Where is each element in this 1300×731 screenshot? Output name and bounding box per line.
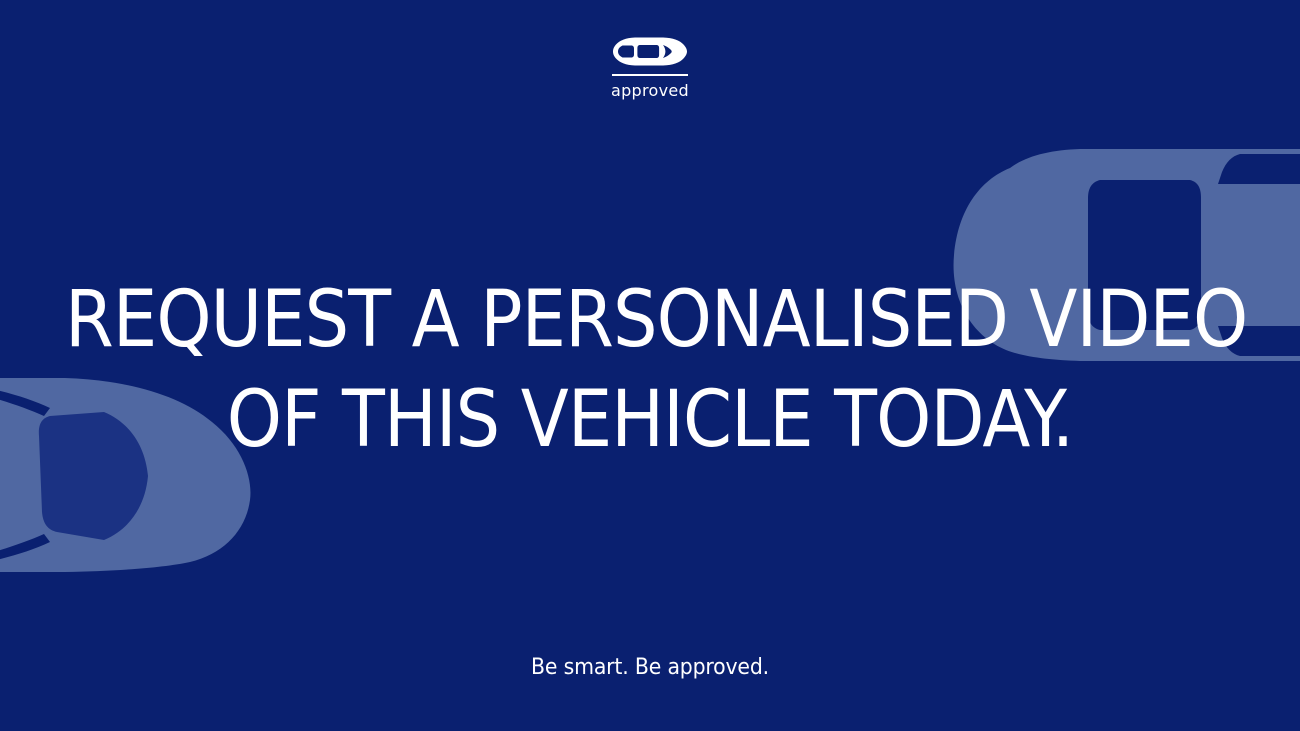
promo-banner: approved REQUEST A PERSONALISED VIDEO OF…: [0, 0, 1300, 731]
car-top-view-icon: [613, 36, 687, 67]
headline-line-2: OF THIS VEHICLE TODAY.: [65, 372, 1235, 468]
logo-wordmark: approved: [611, 81, 689, 100]
headline: REQUEST A PERSONALISED VIDEO OF THIS VEH…: [0, 272, 1300, 468]
logo-divider: [612, 74, 688, 76]
headline-line-1: REQUEST A PERSONALISED VIDEO: [65, 272, 1235, 368]
tagline: Be smart. Be approved.: [46, 655, 1255, 680]
brand-logo: approved: [0, 36, 1300, 100]
